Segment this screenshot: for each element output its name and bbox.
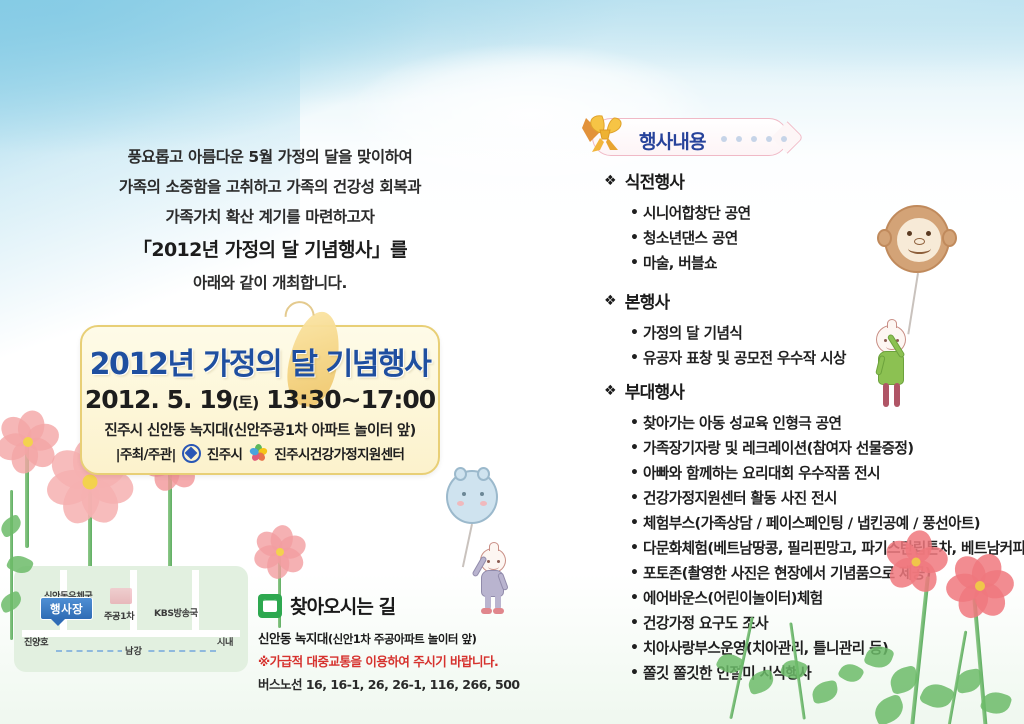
jinju-city-logo-icon bbox=[182, 444, 201, 463]
blue-animal-balloon-icon bbox=[446, 470, 498, 524]
directions-block: 찾아오시는 길 신안동 녹지대(신안1차 주공아파트 놀이터 앞) ※가급적 대… bbox=[258, 592, 558, 693]
event-organizers: |주최/주관| 진주시 진주시건강가정지원센터 bbox=[82, 443, 438, 463]
list-item: 마술, 버블쇼 bbox=[630, 251, 751, 276]
list-item: 유공자 표창 및 공모전 우수작 시상 bbox=[630, 346, 846, 371]
list-item: 아빠와 함께하는 요리대회 우수작품 전시 bbox=[630, 461, 1024, 486]
greenery-left-edge bbox=[0, 470, 40, 670]
intro-closing: 아래와 같이 개최합니다. bbox=[60, 268, 480, 298]
child-figure bbox=[874, 325, 934, 391]
map-label-kbs: KBS방송국 bbox=[154, 605, 198, 619]
family-center-logo-icon bbox=[248, 443, 268, 463]
map-road-vertical-right bbox=[192, 570, 199, 632]
program-header-title: 행사내용 bbox=[639, 127, 706, 154]
host-label: |주최/주관| bbox=[116, 443, 176, 463]
list-item: 건강가정지원센터 활동 사진 전시 bbox=[630, 486, 1024, 511]
section-title: 부대행사 bbox=[625, 378, 684, 403]
directions-bus-routes: 버스노선 16, 16-1, 26, 26-1, 116, 266, 500 bbox=[258, 674, 558, 693]
map-label-river: 남강 bbox=[122, 643, 145, 657]
location-map: 신안동우체국 행사장 주공1차 KBS방송국 진양호 시내 남강 bbox=[14, 566, 248, 672]
child-leg-right bbox=[894, 383, 900, 407]
section-title: 식전행사 bbox=[625, 168, 684, 193]
section-item-list: 시니어합창단 공연 청소년댄스 공연 마술, 버블쇼 bbox=[604, 201, 751, 276]
list-item: 가정의 달 기념식 bbox=[630, 321, 846, 346]
intro-line-3: 가족가치 확산 계기를 마련하고자 bbox=[60, 202, 480, 232]
child-with-blue-balloon bbox=[444, 470, 554, 595]
child-with-monkey-balloon bbox=[862, 205, 992, 390]
monkey-balloon-icon bbox=[884, 205, 950, 273]
ribbon-bow-icon bbox=[580, 112, 628, 156]
child-leg-left bbox=[883, 383, 889, 407]
section-item-list: 가정의 달 기념식 유공자 표창 및 공모전 우수작 시상 bbox=[604, 321, 846, 371]
directions-heading: 찾아오시는 길 bbox=[258, 592, 558, 619]
list-item: 시니어합창단 공연 bbox=[630, 201, 751, 226]
greenery-bottom-center bbox=[700, 612, 900, 724]
map-label-apartment: 주공1차 bbox=[104, 608, 134, 622]
event-datetime: 2012. 5. 19(토) 13:30~17:00 bbox=[82, 385, 438, 414]
host-family-center: 진주시건강가정지원센터 bbox=[274, 443, 404, 463]
intro-line-1: 풍요롭고 아름다운 5월 가정의 달을 맞이하여 bbox=[60, 142, 480, 172]
directions-address: 신안동 녹지대(신안1차 주공아파트 놀이터 앞) bbox=[258, 628, 558, 647]
section-heading: ❖ 본행사 bbox=[604, 288, 846, 313]
directions-title: 찾아오시는 길 bbox=[290, 592, 395, 619]
event-title: 2012년 가정의 달 기념행사 bbox=[82, 339, 438, 383]
apartment-icon bbox=[110, 588, 132, 604]
intro-paragraph: 풍요롭고 아름다운 5월 가정의 달을 맞이하여 가족의 소중함을 고취하고 가… bbox=[60, 142, 480, 298]
diamond-bullet-icon: ❖ bbox=[604, 294, 616, 308]
poster-canvas: 풍요롭고 아름다운 5월 가정의 달을 맞이하여 가족의 소중함을 고취하고 가… bbox=[0, 0, 1024, 724]
diamond-bullet-icon: ❖ bbox=[604, 174, 616, 188]
section-heading: ❖ 식전행사 bbox=[604, 168, 751, 193]
map-label-downtown: 시내 bbox=[217, 634, 233, 648]
section-title: 본행사 bbox=[625, 288, 670, 313]
program-section-main-event: ❖ 본행사 가정의 달 기념식 유공자 표창 및 공모전 우수작 시상 bbox=[604, 288, 846, 371]
list-item: 청소년댄스 공연 bbox=[630, 226, 751, 251]
intro-line-2: 가족의 소중함을 고취하고 가족의 건강성 회복과 bbox=[60, 172, 480, 202]
program-section-pre-event: ❖ 식전행사 시니어합창단 공연 청소년댄스 공연 마술, 버블쇼 bbox=[604, 168, 751, 276]
directions-notice: ※가급적 대중교통을 이용하여 주시기 바랍니다. bbox=[258, 651, 558, 670]
address-main: 신안동 녹지대 bbox=[258, 631, 328, 646]
event-day: (토) bbox=[232, 393, 258, 412]
event-date: 2012. 5. 19 bbox=[85, 385, 232, 414]
list-item: 찾아가는 아동 성교육 인형극 공연 bbox=[630, 411, 1024, 436]
intro-highlight: 「2012년 가정의 달 기념행사」를 bbox=[60, 232, 480, 268]
event-time: 13:30~17:00 bbox=[266, 385, 435, 414]
list-item: 가족장기자랑 및 레크레이션(참여자 선물증정) bbox=[630, 436, 1024, 461]
diamond-bullet-icon: ❖ bbox=[604, 384, 616, 398]
host-jinju-city: 진주시 bbox=[207, 443, 242, 463]
map-site-tag: 행사장 bbox=[40, 597, 93, 620]
event-location: 진주시 신안동 녹지대(신안주공1차 아파트 놀이터 앞) bbox=[82, 419, 438, 440]
event-details-box: 2012년 가정의 달 기념행사 2012. 5. 19(토) 13:30~17… bbox=[80, 325, 440, 475]
header-dots-decoration bbox=[721, 136, 787, 142]
bus-icon bbox=[258, 594, 282, 618]
address-detail: (신안1차 주공아파트 놀이터 앞) bbox=[328, 632, 476, 646]
